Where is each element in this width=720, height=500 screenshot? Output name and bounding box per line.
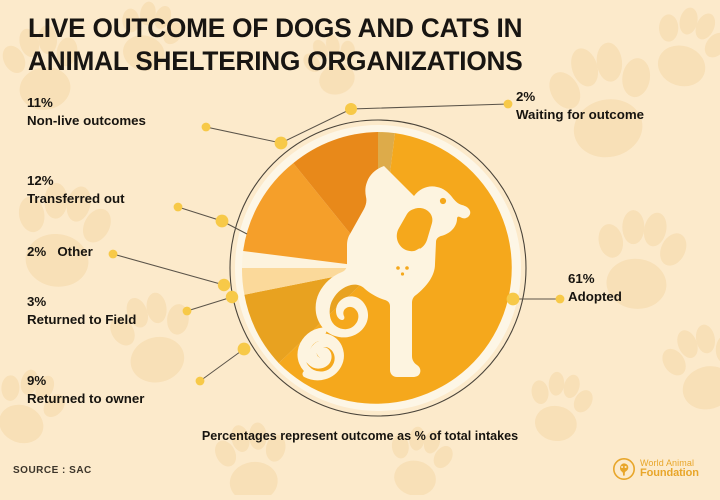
- dot-waiting-label: [504, 100, 513, 109]
- connector-other: [113, 254, 224, 285]
- dot-owner-label: [196, 377, 205, 386]
- connector-returned-to-field: [187, 297, 232, 311]
- callout-waiting-for-outcome-label: Waiting for outcome: [516, 106, 644, 124]
- callout-non-live-outcomes-label: Non-live outcomes: [27, 112, 146, 130]
- dot-adopted-label: [556, 295, 565, 304]
- dot-other-label: [109, 250, 118, 259]
- dot-waiting-ring: [345, 103, 357, 115]
- dot-field-label: [183, 307, 192, 316]
- logo-line-2: Foundation: [640, 468, 699, 479]
- world-animal-foundation-logo[interactable]: World Animal Foundation: [613, 458, 699, 480]
- logo-wordmark: World Animal Foundation: [640, 459, 699, 479]
- callout-returned-to-field: 3% Returned to Field: [27, 293, 136, 328]
- callout-adopted-value: 61%: [568, 270, 622, 288]
- callout-returned-to-owner: 9% Returned to owner: [27, 372, 144, 407]
- callout-waiting-for-outcome: 2% Waiting for outcome: [516, 88, 644, 123]
- callout-returned-to-field-label: Returned to Field: [27, 311, 136, 329]
- dot-adopted-ring: [507, 293, 520, 306]
- callout-other-value: 2%: [27, 244, 46, 259]
- foundation-emblem-icon: [613, 458, 635, 480]
- callout-transferred-out-label: Transferred out: [27, 190, 125, 208]
- callout-returned-to-owner-label: Returned to owner: [27, 390, 144, 408]
- chart-caption: Percentages represent outcome as % of to…: [160, 428, 560, 446]
- callout-waiting-for-outcome-value: 2%: [516, 88, 644, 106]
- callout-transferred-out: 12% Transferred out: [27, 172, 125, 207]
- chart-stage: [0, 0, 720, 495]
- callout-non-live-outcomes: 11% Non-live outcomes: [27, 94, 146, 129]
- callout-adopted-label: Adopted: [568, 288, 622, 306]
- callout-returned-to-field-value: 3%: [27, 293, 136, 311]
- callout-adopted: 61% Adopted: [568, 270, 622, 305]
- pie-chart: [0, 0, 720, 495]
- dot-nonlive-label: [202, 123, 211, 132]
- dot-transfer-ring: [216, 215, 229, 228]
- dot-nonlive-ring: [275, 137, 288, 150]
- dot-field-ring: [226, 291, 238, 303]
- dot-transfer-label: [174, 203, 183, 212]
- callout-non-live-outcomes-value: 11%: [27, 94, 146, 112]
- dot-owner-ring: [238, 343, 251, 356]
- callout-other-label: Other: [57, 244, 92, 259]
- dot-other-ring: [218, 279, 230, 291]
- connector-returned-to-owner: [200, 349, 244, 381]
- callout-transferred-out-value: 12%: [27, 172, 125, 190]
- infographic-root: LIVE OUTCOME OF DOGS AND CATS IN ANIMAL …: [0, 0, 720, 495]
- dog-eye: [440, 198, 446, 204]
- connector-transferred-out: [178, 207, 247, 234]
- callout-returned-to-owner-value: 9%: [27, 372, 144, 390]
- callout-other: 2% Other: [27, 243, 93, 261]
- source-label: SOURCE : SAC: [13, 465, 92, 476]
